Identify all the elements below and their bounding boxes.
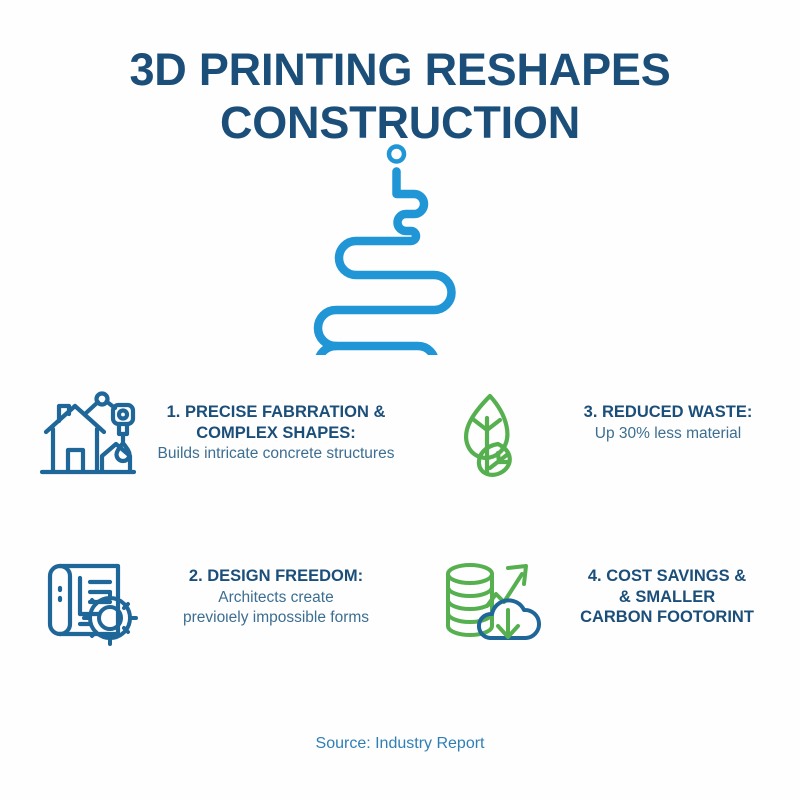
feature-4-text: 4. COST SAVINGS & & SMALLER CARBON FOOTO… [544,552,780,628]
feature-2-description-line-2: previoιely impossible forms [183,609,369,626]
extruded-filament-illustration [310,140,510,355]
infographic-canvas: 3D PRINTING RESHAPES CONSTRUCTION [0,0,800,800]
feature-2-heading: 2. DESIGN FREEDOM: [146,566,406,587]
feature-item-cost-savings[interactable]: 4. COST SAVINGS & & SMALLER CARBON FOOTO… [440,552,780,648]
leaf-icon [446,388,550,484]
source-label: Source: Industry Report [316,735,485,752]
blueprint-gear-icon [36,552,140,648]
feature-4-heading-line-2: & SMALLER [619,588,715,606]
title-line-1: 3D PRINTING RESHAPES [0,44,800,97]
page-title: 3D PRINTING RESHAPES CONSTRUCTION [0,44,800,149]
feature-1-description: Builds intricate concrete structures [146,444,406,464]
feature-1-heading-line-2: COMPLEX SHAPES: [196,424,356,442]
feature-3-text: 3. REDUCED WASTE: Up 30% less material [550,388,776,444]
feature-4-heading-line-1: 4. COST SAVINGS & [588,567,746,585]
feature-3-heading: 3. REDUCED WASTE: [560,402,776,423]
feature-item-precise-fabrication[interactable]: 1. PRECISE FABRRATION & COMPLEX SHAPES: … [36,388,406,484]
feature-4-heading-line-3: CARBON FOOTORINT [580,608,754,626]
feature-1-heading-line-1: 1. PRECISE FABRRATION & [167,403,386,421]
feature-item-reduced-waste[interactable]: 3. REDUCED WASTE: Up 30% less material [446,388,776,484]
feature-2-text: 2. DESIGN FREEDOM: Architects create pre… [140,552,406,628]
feature-3-description: Up 30% less material [560,424,776,444]
feature-item-design-freedom[interactable]: 2. DESIGN FREEDOM: Architects create pre… [36,552,406,648]
feature-4-heading: 4. COST SAVINGS & & SMALLER CARBON FOOTO… [554,566,780,628]
house-robotic-printer-arm-icon [36,388,140,484]
feature-2-description-line-1: Architects create [218,589,333,606]
extruded-filament-line-icon [310,140,510,355]
feature-2-description: Architects create previoιely impossible … [146,588,406,628]
features-grid: 1. PRECISE FABRRATION & COMPLEX SHAPES: … [0,380,800,680]
feature-1-text: 1. PRECISE FABRRATION & COMPLEX SHAPES: … [140,388,406,464]
feature-1-heading: 1. PRECISE FABRRATION & COMPLEX SHAPES: [146,402,406,443]
source-footer: Source: Industry Report [0,735,800,753]
coins-growth-cloud-icon [440,552,544,648]
